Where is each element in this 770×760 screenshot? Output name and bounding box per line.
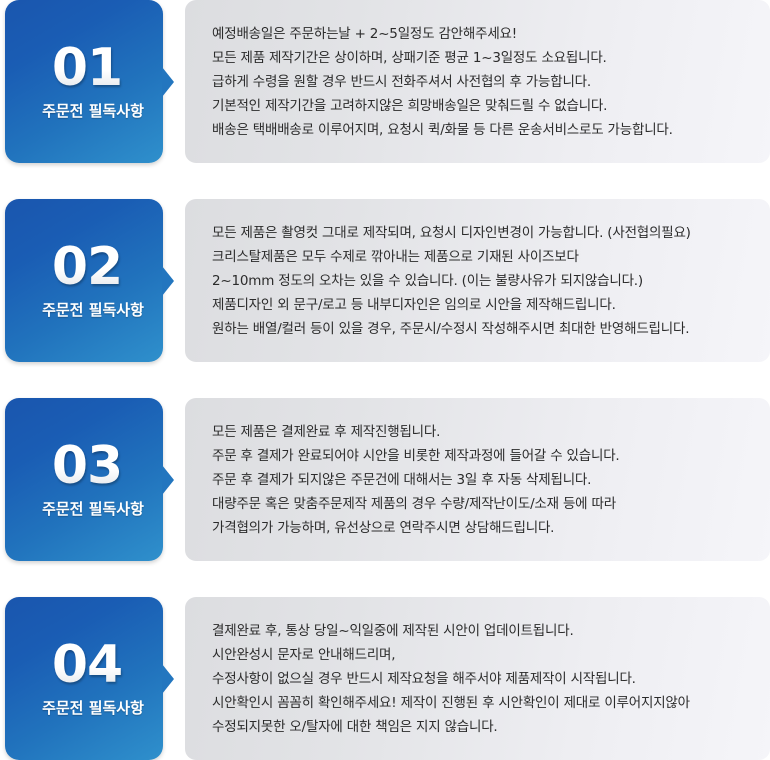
- notice-panel: 모든 제품은 결제완료 후 제작진행됩니다. 주문 후 결제가 완료되어야 시안…: [185, 398, 770, 561]
- notice-line: 대량주문 혹은 맞춤주문제작 제품의 경우 수량/제작난이도/소재 등에 따라: [212, 492, 750, 516]
- step-number: 02: [46, 241, 122, 293]
- notice-line: 수정되지못한 오/탈자에 대한 책임은 지지 않습니다.: [212, 715, 750, 739]
- notice-panel: 모든 제품은 촬영컷 그대로 제작되며, 요청시 디자인변경이 가능합니다. (…: [185, 199, 770, 362]
- notice-line: 2~10mm 정도의 오차는 있을 수 있습니다. (이는 불량사유가 되지않습…: [212, 269, 750, 293]
- notice-block: 03 주문전 필독사항 모든 제품은 결제완료 후 제작진행됩니다. 주문 후 …: [0, 398, 770, 561]
- notice-line: 제품디자인 외 문구/로고 등 내부디자인은 임의로 시안을 제작해드립니다.: [212, 293, 750, 317]
- notice-line: 모든 제품은 촬영컷 그대로 제작되며, 요청시 디자인변경이 가능합니다. (…: [212, 221, 750, 245]
- notice-line: 주문 후 결제가 완료되어야 시안을 비롯한 제작과정에 들어갈 수 있습니다.: [212, 444, 750, 468]
- notice-block: 04 주문전 필독사항 결제완료 후, 통상 당일~익일중에 제작된 시안이 업…: [0, 597, 770, 760]
- notice-line: 시안완성시 문자로 안내해드리며,: [212, 643, 750, 667]
- badge-pointer-icon: [162, 266, 174, 296]
- notice-line: 원하는 배열/컬러 등이 있을 경우, 주문시/수정시 작성해주시면 최대한 반…: [212, 317, 750, 341]
- notice-line: 가격협의가 가능하며, 유선상으로 연락주시면 상담해드립니다.: [212, 516, 750, 540]
- notice-line: 예정배송일은 주문하는날 + 2~5일정도 감안해주세요!: [212, 22, 750, 46]
- notice-list: 01 주문전 필독사항 예정배송일은 주문하는날 + 2~5일정도 감안해주세요…: [0, 0, 770, 760]
- badge-pointer-icon: [162, 465, 174, 495]
- notice-block: 01 주문전 필독사항 예정배송일은 주문하는날 + 2~5일정도 감안해주세요…: [0, 0, 770, 163]
- step-badge-02: 02 주문전 필독사항: [5, 199, 163, 362]
- notice-line: 시안확인시 꼼꼼히 확인해주세요! 제작이 진행된 후 시안확인이 제대로 이루…: [212, 691, 750, 715]
- step-badge-04: 04 주문전 필독사항: [5, 597, 163, 760]
- badge-pointer-icon: [162, 664, 174, 694]
- step-number: 04: [46, 639, 122, 691]
- step-label: 주문전 필독사항: [24, 498, 144, 519]
- notice-line: 크리스탈제품은 모두 수제로 깎아내는 제품으로 기재된 사이즈보다: [212, 245, 750, 269]
- notice-line: 주문 후 결제가 되지않은 주문건에 대해서는 3일 후 자동 삭제됩니다.: [212, 468, 750, 492]
- notice-panel: 결제완료 후, 통상 당일~익일중에 제작된 시안이 업데이트됩니다. 시안완성…: [185, 597, 770, 760]
- step-badge-03: 03 주문전 필독사항: [5, 398, 163, 561]
- step-badge-01: 01 주문전 필독사항: [5, 0, 163, 163]
- step-label: 주문전 필독사항: [24, 100, 144, 121]
- notice-line: 모든 제품은 결제완료 후 제작진행됩니다.: [212, 420, 750, 444]
- step-number: 03: [46, 440, 122, 492]
- notice-block: 02 주문전 필독사항 모든 제품은 촬영컷 그대로 제작되며, 요청시 디자인…: [0, 199, 770, 362]
- notice-line: 결제완료 후, 통상 당일~익일중에 제작된 시안이 업데이트됩니다.: [212, 619, 750, 643]
- notice-line: 배송은 택배배송로 이루어지며, 요청시 퀵/화물 등 다른 운송서비스로도 가…: [212, 118, 750, 142]
- notice-line: 급하게 수령을 원할 경우 반드시 전화주셔서 사전협의 후 가능합니다.: [212, 70, 750, 94]
- notice-line: 수정사항이 없으실 경우 반드시 제작요청을 해주서야 제품제작이 시작됩니다.: [212, 667, 750, 691]
- badge-pointer-icon: [162, 67, 174, 97]
- notice-line: 모든 제품 제작기간은 상이하며, 상패기준 평균 1~3일정도 소요됩니다.: [212, 46, 750, 70]
- step-label: 주문전 필독사항: [24, 697, 144, 718]
- step-label: 주문전 필독사항: [24, 299, 144, 320]
- step-number: 01: [46, 42, 122, 94]
- notice-line: 기본적인 제작기간을 고려하지않은 희망배송일은 맞춰드릴 수 없습니다.: [212, 94, 750, 118]
- notice-panel: 예정배송일은 주문하는날 + 2~5일정도 감안해주세요! 모든 제품 제작기간…: [185, 0, 770, 163]
